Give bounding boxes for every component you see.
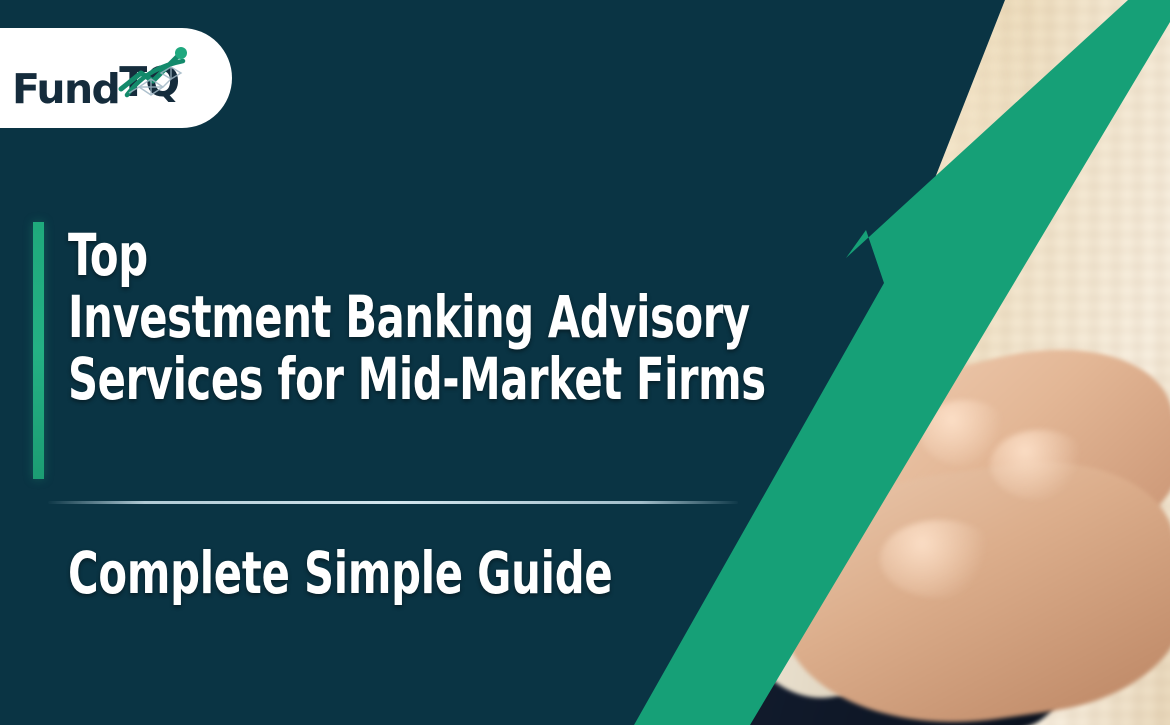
logo-mark: Fund TQ: [12, 47, 197, 110]
page-title: Top Investment Banking Advisory Services…: [68, 224, 828, 410]
knuckle-highlight: [990, 430, 1090, 500]
article-hero-banner: Fund TQ: [0, 0, 1170, 725]
headline-accent-bar: [33, 222, 44, 479]
headline-line-1: Top: [68, 224, 676, 286]
headline-line-3: Services for Mid-Market Firms: [68, 348, 676, 410]
logo[interactable]: Fund TQ: [0, 28, 232, 128]
growth-chart-icon: [117, 43, 199, 103]
logo-word-fund: Fund: [12, 69, 119, 110]
title-divider: [48, 501, 738, 504]
logo-tq-group: TQ: [119, 47, 197, 103]
knuckle-highlight: [880, 520, 1000, 598]
subtitle: Complete Simple Guide: [68, 540, 612, 606]
headline-line-2: Investment Banking Advisory: [68, 286, 676, 348]
